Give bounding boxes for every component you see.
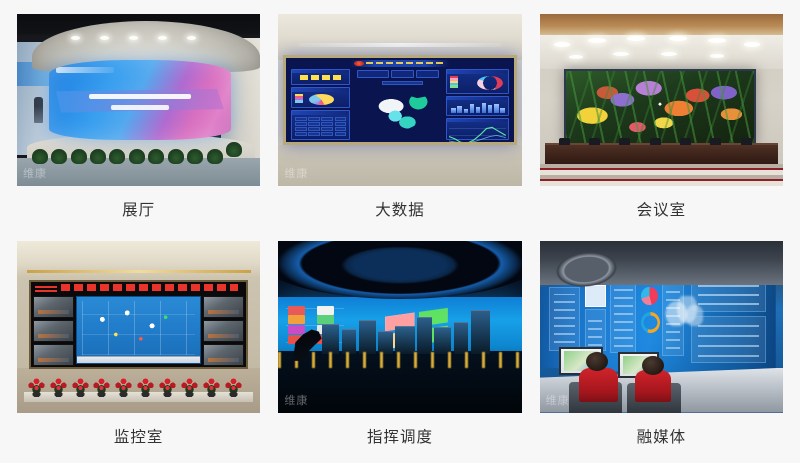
line-chart-panel [446, 118, 510, 141]
image-gallery-grid: 维康 展厅 [0, 0, 800, 463]
process-flow-diagram [82, 301, 195, 355]
pie-chart [309, 94, 334, 105]
pie-chart [641, 287, 658, 305]
ring-ceiling [278, 241, 521, 299]
microphone-icon [650, 138, 661, 145]
line-chart-curve [449, 124, 506, 145]
kpi-panel [291, 69, 350, 85]
photo-converged-media[interactable]: 维康 [540, 241, 783, 413]
microphone-icon [710, 138, 721, 145]
data-table-panel [291, 110, 350, 140]
cctv-feed [33, 296, 74, 318]
donut-chart-panel [446, 69, 510, 94]
gallery-item-exhibition-hall[interactable]: 维康 展厅 [17, 14, 260, 237]
flower-stems [566, 71, 754, 143]
screen-logo [56, 67, 114, 73]
cctv-feed [203, 296, 244, 318]
donut-chart [477, 76, 503, 90]
gallery-item-monitoring-room[interactable]: 监控室 [17, 241, 260, 463]
scene-command-dispatch [278, 241, 521, 413]
caption-converged-media: 融媒体 [637, 430, 687, 446]
staff-head [642, 356, 664, 375]
cctv-feed [203, 344, 244, 366]
windows-taskbar [77, 356, 200, 363]
data-panel [549, 287, 580, 350]
photo-exhibition-hall[interactable]: 维康 [17, 14, 260, 186]
scene-monitoring-room [17, 241, 260, 413]
scene-exhibition-hall [17, 14, 260, 186]
donut-chart [641, 312, 660, 333]
led-video-wall [49, 60, 232, 139]
gallery-item-big-data[interactable]: 维康 大数据 [278, 14, 521, 237]
microphone-icon [589, 138, 600, 145]
scene-big-data [278, 14, 521, 186]
microphone-icon [559, 138, 570, 145]
data-panel [610, 282, 636, 354]
scene-converged-media [540, 241, 783, 413]
gallery-item-command-dispatch[interactable]: 维康 指挥调度 [278, 241, 521, 463]
company-logo-icon [35, 284, 57, 292]
staff-head [586, 352, 608, 371]
china-map-chart [368, 90, 436, 135]
caption-exhibition-hall: 展厅 [122, 203, 155, 219]
gallery-item-converged-media[interactable]: 维康 融媒体 [540, 241, 783, 463]
microphone-icon [619, 138, 630, 145]
gallery-item-conference-room[interactable]: 会议室 [540, 14, 783, 237]
bar-chart-panel [446, 96, 510, 116]
screen-subline [111, 105, 169, 110]
staff-member [579, 368, 618, 402]
pie-chart-panel [291, 87, 350, 109]
dashboard-logo-icon [354, 61, 364, 66]
audience-seating [540, 164, 783, 186]
scene-conference-room [540, 14, 783, 186]
dashboard-title-bar [350, 60, 450, 68]
photo-conference-room[interactable] [540, 14, 783, 186]
caption-command-dispatch: 指挥调度 [367, 430, 433, 446]
photo-big-data[interactable]: 维康 [278, 14, 521, 186]
list-panel [691, 316, 767, 363]
cctv-feed [33, 344, 74, 366]
scada-process-screen [76, 296, 201, 364]
led-video-wall [283, 55, 517, 144]
caption-conference-room: 会议室 [637, 203, 687, 219]
welcome-banner [31, 282, 246, 294]
caption-big-data: 大数据 [375, 203, 425, 219]
led-video-wall [29, 280, 248, 369]
stat-box-left [357, 70, 389, 78]
data-panel [585, 309, 606, 350]
microphone-icon [680, 138, 691, 145]
caption-monitoring-room: 监控室 [114, 430, 164, 446]
cctv-feed [203, 320, 244, 342]
screen-headline [89, 94, 191, 99]
cctv-feed [33, 320, 74, 342]
banner-text [61, 284, 237, 291]
photo-monitoring-room[interactable] [17, 241, 260, 413]
visitor-silhouette [34, 97, 43, 123]
stat-box-right [416, 70, 439, 78]
led-video-wall [564, 69, 756, 145]
photo-command-dispatch[interactable]: 维康 [278, 241, 521, 413]
stat-box-mid [391, 70, 414, 78]
microphone-icon [741, 138, 752, 145]
